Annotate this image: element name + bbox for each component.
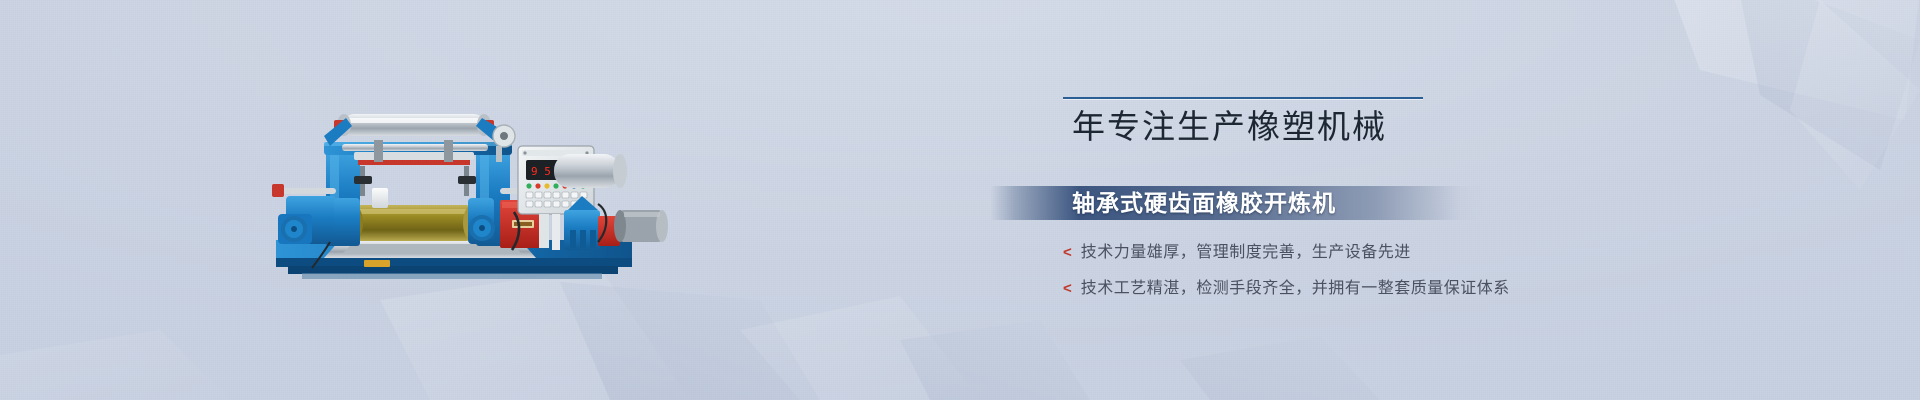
chevron-left-icon: < <box>1063 280 1072 297</box>
list-item: < 技术力量雄厚，管理制度完善，生产设备先进 <box>1063 243 1583 263</box>
product-image: 9 5 <box>268 92 668 282</box>
svg-text:9 5: 9 5 <box>531 165 551 178</box>
page-title: 年专注生产橡塑机械 <box>1072 105 1387 149</box>
list-item-label: 技术工艺精湛，检测手段齐全，并拥有一整套质量保证体系 <box>1081 279 1510 299</box>
hero-banner: 9 5 <box>0 0 1920 400</box>
feature-list: < 技术力量雄厚，管理制度完善，生产设备先进 < 技术工艺精湛，检测手段齐全，并… <box>1063 243 1583 315</box>
list-item-label: 技术力量雄厚，管理制度完善，生产设备先进 <box>1081 243 1411 263</box>
product-name-label: 轴承式硬齿面橡胶开炼机 <box>1072 189 1336 217</box>
list-item: < 技术工艺精湛，检测手段齐全，并拥有一整套质量保证体系 <box>1063 279 1583 299</box>
headline-divider <box>1063 97 1423 99</box>
chevron-left-icon: < <box>1063 244 1072 261</box>
